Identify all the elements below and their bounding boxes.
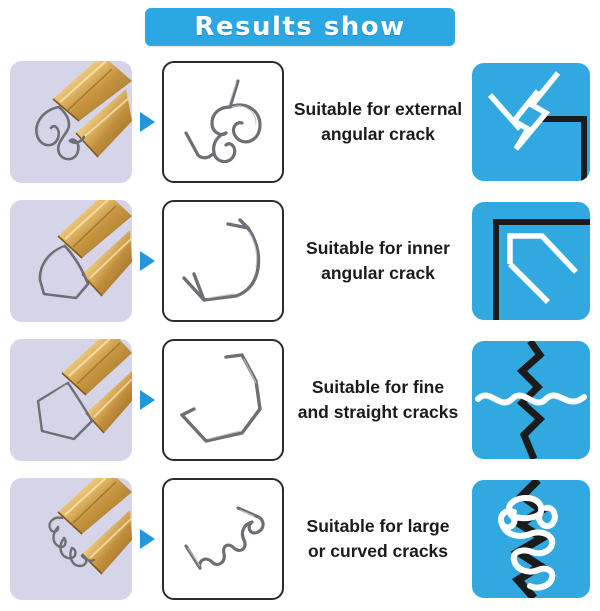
header: Results show [0, 8, 600, 46]
illustration-external-angular [472, 63, 590, 181]
square-flat-staple-icon [164, 341, 278, 455]
caption-1: Suitable for external angular crack [284, 97, 472, 148]
results-show-infographic: Results show [0, 0, 600, 600]
row-fine-straight: Suitable for fine and straight cracks [0, 333, 600, 467]
photo-panel-1 [10, 61, 132, 183]
row-external-angular: Suitable for external angular crack [0, 55, 600, 189]
row-large-curved: Suitable for large or curved cracks [0, 472, 600, 606]
arrow-right-icon-2 [132, 251, 162, 271]
photo-panel-2 [10, 200, 132, 322]
u-shaped-staple-icon [164, 202, 278, 316]
page-title: Results show [194, 14, 405, 40]
caption-line-1b: angular crack [321, 124, 435, 144]
arrow-right-icon-4 [132, 529, 162, 549]
caption-line-3a: Suitable for fine [312, 377, 444, 397]
staple-shape-box-3 [162, 339, 284, 461]
illustration-inner-angular [472, 202, 590, 320]
caption-line-3b: and straight cracks [298, 402, 458, 422]
staple-shape-box-1 [162, 61, 284, 183]
arrow-right-icon-1 [132, 112, 162, 132]
caption-line-2b: angular crack [321, 263, 435, 283]
caption-3: Suitable for fine and straight cracks [284, 375, 472, 426]
caption-line-4b: or curved cracks [308, 541, 448, 561]
photo-panel-3 [10, 339, 132, 461]
rows-container: Suitable for external angular crack [0, 55, 600, 611]
photo-panel-4 [10, 478, 132, 600]
staple-shape-box-4 [162, 478, 284, 600]
s-shaped-wave-staple-icon [164, 63, 278, 177]
staple-shape-box-2 [162, 200, 284, 322]
illustration-fine-straight [472, 341, 590, 459]
caption-line-1a: Suitable for external [294, 99, 462, 119]
header-banner: Results show [145, 8, 455, 46]
arrow-right-icon-3 [132, 390, 162, 410]
row-inner-angular: Suitable for inner angular crack [0, 194, 600, 328]
illustration-large-curved [472, 480, 590, 598]
caption-4: Suitable for large or curved cracks [284, 514, 472, 565]
caption-line-2a: Suitable for inner [306, 238, 450, 258]
wavy-curled-staple-icon [164, 480, 278, 594]
caption-line-4a: Suitable for large [307, 516, 450, 536]
caption-2: Suitable for inner angular crack [284, 236, 472, 287]
